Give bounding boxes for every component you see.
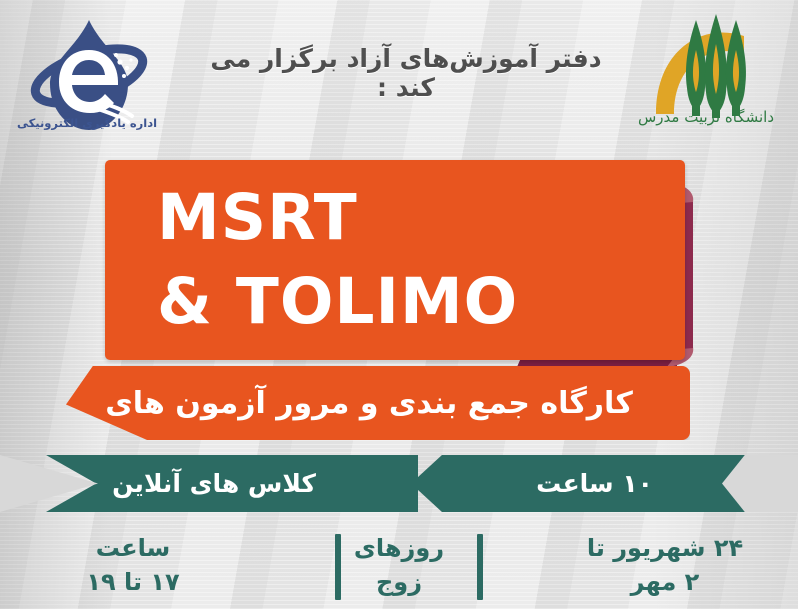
- header-announcement: دفتر آموزش‌های آزاد برگزار می کند :: [190, 44, 622, 102]
- info-class-time: ساعت ۱۷ تا ۱۹: [0, 520, 266, 609]
- chevron-duration: ۱۰ ساعت: [411, 455, 798, 512]
- poster-root: دفتر آموزش‌های آزاد برگزار می کند : ادار…: [0, 0, 798, 609]
- info-divider-2: [335, 534, 341, 600]
- info-row: ۲۴ شهریور تا ۲ مهر روزهای زوج ساعت ۱۷ تا…: [0, 520, 798, 609]
- main-title-line-2: & TOLIMO: [157, 260, 577, 344]
- main-title: MSRT & TOLIMO: [157, 176, 577, 344]
- main-title-line-1: MSRT: [157, 176, 577, 260]
- subtitle-banner-text: کارگاه جمع بندی و مرور آزمون های: [66, 366, 690, 440]
- university-logo-caption: دانشگاه تربیت مدرس: [622, 108, 790, 126]
- info-class-days: روزهای زوج: [266, 520, 532, 609]
- tarbiat-modares-university-logo: [640, 10, 780, 118]
- main-title-banner: MSRT & TOLIMO: [105, 160, 685, 360]
- info-date-range: ۲۴ شهریور تا ۲ مهر: [532, 520, 798, 609]
- info-divider-1: [477, 534, 483, 600]
- e-learning-logo-caption: اداره یادگیری الکترونیکی: [12, 116, 162, 130]
